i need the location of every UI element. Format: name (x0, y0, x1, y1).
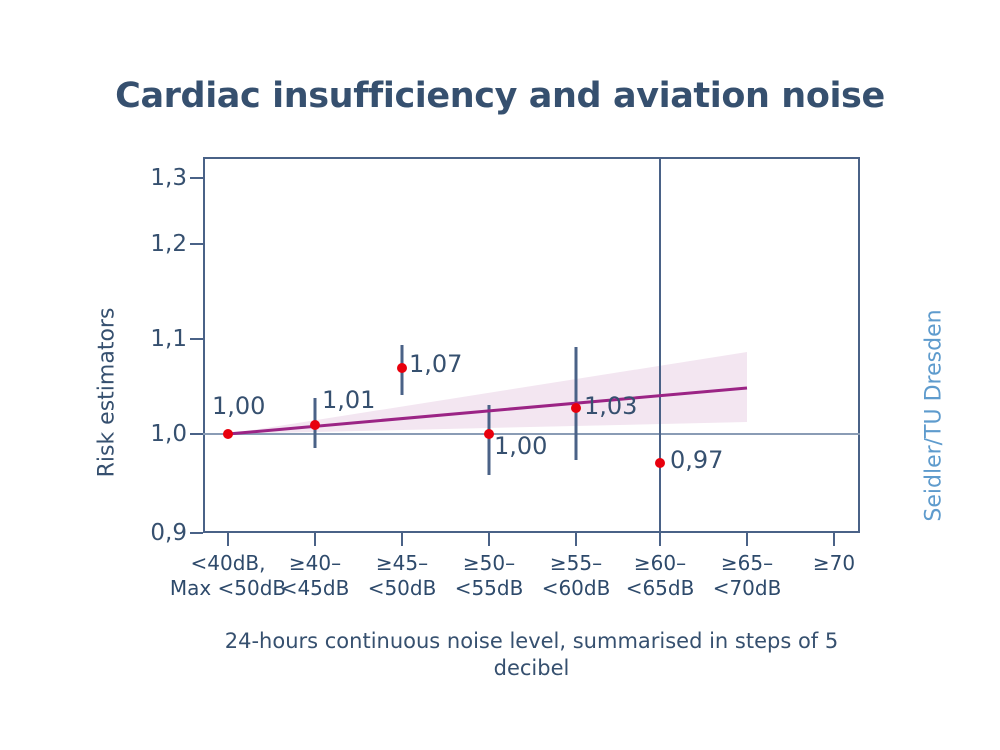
y-tick-label: 1,3 (127, 165, 187, 191)
y-tick-label: 1,1 (127, 326, 187, 352)
data-point-label: 1,07 (409, 350, 462, 378)
data-point-label: 1,03 (584, 392, 637, 420)
source-credit: Seidler/TU Dresden (922, 281, 947, 551)
chart-container: Cardiac insufficiency and aviation noise… (0, 0, 1000, 750)
y-axis-tick-labels: 0,9 1,0 1,1 1,2 1,3 (125, 0, 187, 750)
y-tick-label: 1,2 (127, 231, 187, 257)
data-point-label: 0,97 (670, 446, 723, 474)
data-point-label: 1,01 (322, 386, 375, 414)
data-point-label: 1,00 (494, 432, 547, 460)
plot-area-frame (203, 157, 860, 533)
y-axis-title: Risk estimators (95, 278, 120, 508)
y-tick-label: 1,0 (127, 421, 187, 447)
data-point-label: 1,00 (212, 392, 265, 420)
y-tick-label: 0,9 (127, 520, 187, 546)
x-tick-label: ≥70 (774, 551, 894, 576)
x-axis-title: 24-hours continuous noise level, summari… (203, 628, 860, 682)
